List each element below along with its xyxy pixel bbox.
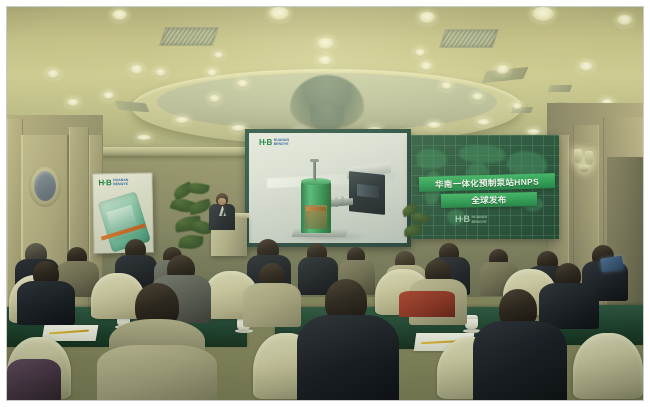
ceiling-downlight	[532, 7, 554, 21]
ceiling-downlight	[441, 82, 452, 89]
ceiling-downlight	[112, 10, 127, 20]
attendee-body	[473, 321, 567, 400]
ceiling-downlight	[472, 93, 483, 100]
ceiling-downlight	[269, 7, 289, 20]
ceiling-downlight	[317, 38, 334, 49]
attendee-body	[297, 315, 399, 400]
ceiling-downlight	[137, 135, 151, 140]
attendee-body	[17, 281, 75, 325]
ceiling-downlight	[231, 125, 246, 131]
ceiling-downlight	[496, 65, 509, 74]
render-vent-stack	[313, 161, 316, 181]
wall-sconce	[585, 151, 593, 165]
ceiling-downlight	[103, 92, 114, 99]
logo-mark: H·B	[98, 179, 111, 187]
banquet-chair	[573, 333, 643, 399]
ceiling-vent	[439, 29, 499, 48]
render-box-detail	[357, 184, 379, 198]
display-screen-logo: H·B HUANAN BENGYE	[455, 215, 487, 224]
logo-mark: H·B	[259, 139, 272, 147]
render-pump-top	[301, 178, 331, 185]
ceiling-downlight	[155, 69, 166, 76]
wall-sconce	[574, 149, 582, 163]
plant-leaf	[411, 211, 430, 225]
wall-shadow	[607, 157, 643, 327]
ceiling-downlight	[512, 103, 522, 109]
logo-subtext: HUANAN BENGYE	[274, 139, 289, 147]
banner-company-logo: H·B HUANAN BENGYE	[98, 179, 128, 188]
logo-sub-line2: BENGYE	[274, 143, 289, 147]
ceiling-downlight	[237, 80, 248, 87]
chandelier-drop	[310, 105, 344, 131]
ceiling-downlight	[214, 52, 223, 58]
ceiling-downlight	[420, 62, 432, 70]
ceiling-downlight	[579, 62, 593, 71]
landmass	[459, 145, 505, 163]
subhead-banner: 全球发布	[441, 192, 537, 208]
porthole-glass	[34, 171, 56, 201]
ceiling-downlight	[617, 15, 632, 25]
photo-border: H·B HUANAN BENGYE	[6, 6, 644, 401]
render-pipe-flange	[341, 196, 344, 206]
landmass	[417, 149, 447, 169]
ceiling-downlight	[318, 56, 332, 65]
attendee-body	[97, 345, 217, 400]
attendee-body	[399, 291, 455, 317]
plant-leaf	[186, 181, 210, 196]
ceiling-vent	[159, 27, 219, 46]
logo-sub-line1: HUANAN	[472, 215, 488, 219]
ceiling-downlight	[209, 95, 220, 102]
logo-mark: H·B	[455, 215, 470, 224]
potted-plant	[402, 203, 430, 251]
logo-sub-line2: BENGYE	[472, 220, 488, 224]
subhead-text: 全球发布	[471, 194, 506, 207]
projection-screen-surface: H·B HUANAN BENGYE	[249, 133, 407, 243]
ceiling-downlight	[427, 122, 441, 128]
render-vent-cap	[310, 159, 319, 162]
conference-hall-photo: H·B HUANAN BENGYE	[7, 7, 643, 400]
render-pump-window-rim	[306, 207, 326, 211]
headline-text: 华南一体化预制泵站HNPS	[435, 175, 539, 190]
photo-frame: H·B HUANAN BENGYE	[0, 0, 650, 407]
projection-screen: H·B HUANAN BENGYE	[245, 129, 411, 247]
ceiling-vent	[548, 85, 573, 92]
ceiling-downlight	[419, 12, 435, 23]
ceiling-downlight	[175, 117, 189, 123]
ceiling-downlight	[130, 65, 143, 74]
logo-subtext: HUANAN BENGYE	[113, 179, 128, 187]
wall-sconce	[579, 165, 589, 172]
ceiling-downlight	[477, 119, 490, 125]
attendee-body	[243, 283, 301, 327]
attendee-body	[7, 359, 61, 400]
plant-leaf	[178, 234, 203, 250]
rollup-banner: H·B HUANAN BENGYE	[92, 172, 153, 253]
ceiling-downlight	[207, 69, 217, 76]
ceiling-downlight	[67, 99, 79, 106]
logo-subtext: HUANAN BENGYE	[472, 215, 488, 223]
plant-leaf	[403, 224, 422, 237]
display-screen: 华南一体化预制泵站HNPS 全球发布 H·B HUANAN BENGYE	[411, 135, 559, 239]
ceiling-downlight	[415, 49, 425, 56]
screen-company-logo: H·B HUANAN BENGYE	[259, 139, 289, 147]
logo-sub-line2: BENGYE	[113, 183, 128, 187]
render-pipe-flange	[335, 197, 338, 207]
ceiling-downlight	[47, 70, 59, 78]
speaker-face	[218, 198, 226, 205]
